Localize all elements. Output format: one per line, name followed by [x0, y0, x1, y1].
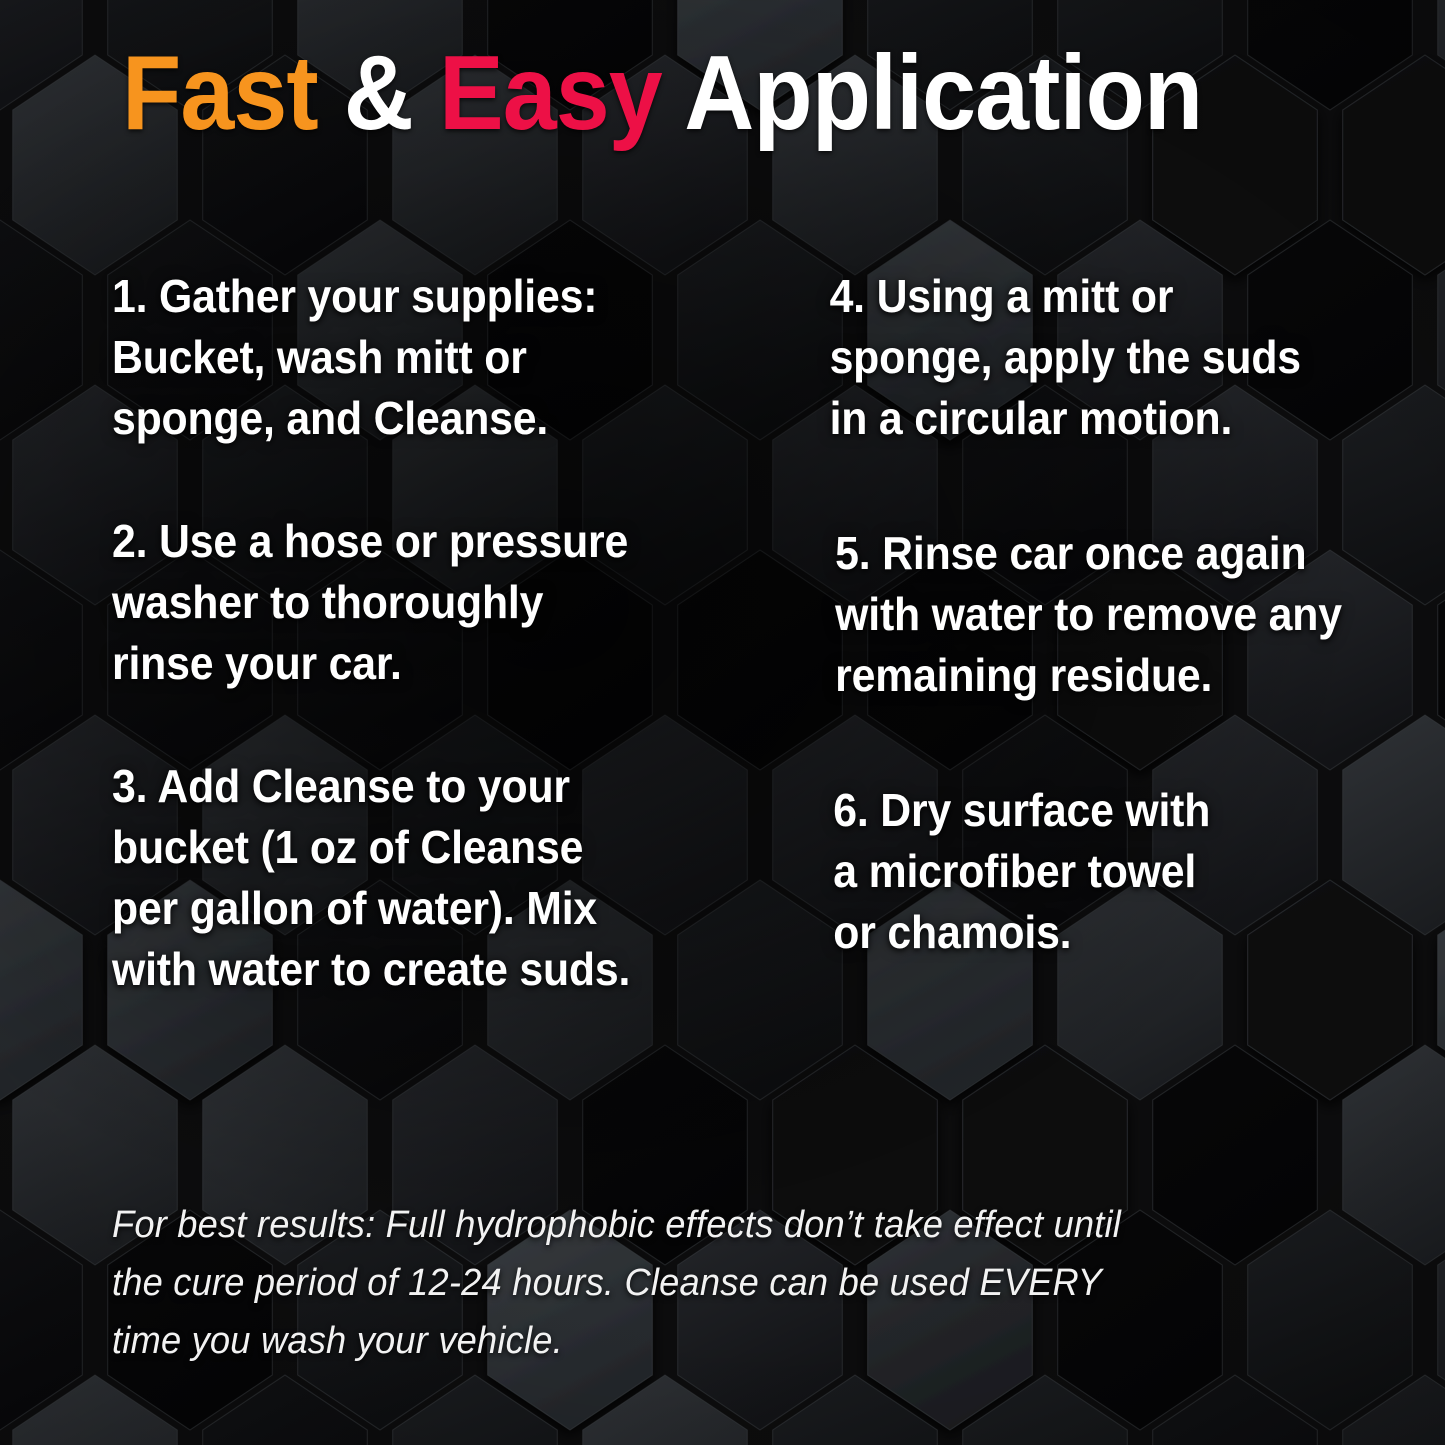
steps-column-right: 4. Using a mitt or sponge, apply the sud… — [824, 266, 1444, 963]
title-word-fast: Fast — [122, 34, 318, 152]
step-item-6: 6. Dry surface with a microfiber towel o… — [824, 780, 1401, 963]
page-title: Fast & Easy Application — [122, 38, 1220, 148]
step-item-4: 4. Using a mitt or sponge, apply the sud… — [824, 266, 1401, 449]
step-item-2: 2. Use a hose or pressure washer to thor… — [112, 511, 726, 694]
title-word-application: Application — [684, 34, 1202, 152]
best-results-note: For best results: Full hydrophobic effec… — [112, 1196, 1311, 1370]
step-item-5: 5. Rinse car once again with water to re… — [824, 523, 1401, 706]
title-word-ampersand: & — [344, 34, 413, 152]
step-item-1: 1. Gather your supplies: Bucket, wash mi… — [112, 266, 726, 449]
poster-canvas: Fast & Easy Application 1. Gather your s… — [0, 0, 1445, 1445]
title-word-easy: Easy — [439, 34, 662, 152]
steps-column-left: 1. Gather your supplies: Bucket, wash mi… — [112, 266, 772, 1000]
step-item-3: 3. Add Cleanse to your bucket (1 oz of C… — [112, 756, 726, 1000]
